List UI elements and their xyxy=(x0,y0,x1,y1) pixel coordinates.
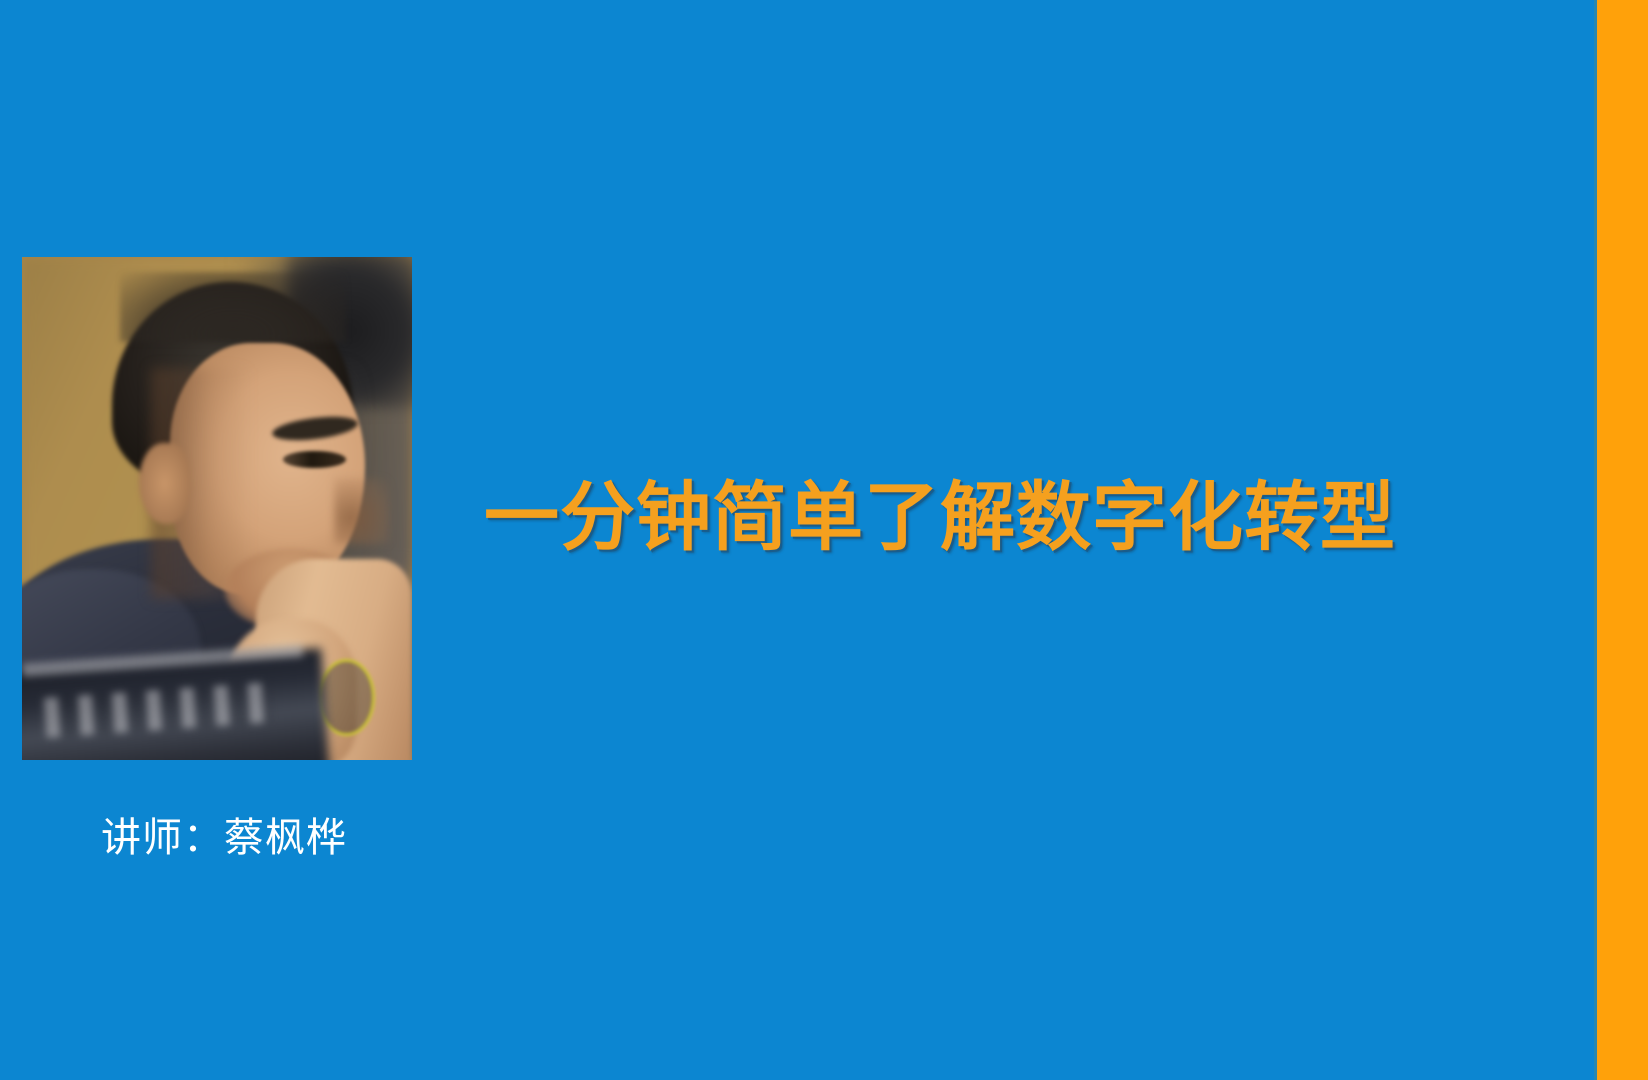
presentation-slide: 一分钟简单了解数字化转型 讲师：蔡枫桦 xyxy=(0,0,1648,1080)
photo-depth-of-field-overlay xyxy=(22,257,412,760)
accent-bar-orange xyxy=(1597,0,1648,1080)
slide-title: 一分钟简单了解数字化转型 xyxy=(484,480,1484,555)
speaker-credit-label: 讲师：蔡枫桦 xyxy=(101,818,347,858)
speaker-photo xyxy=(22,257,412,760)
